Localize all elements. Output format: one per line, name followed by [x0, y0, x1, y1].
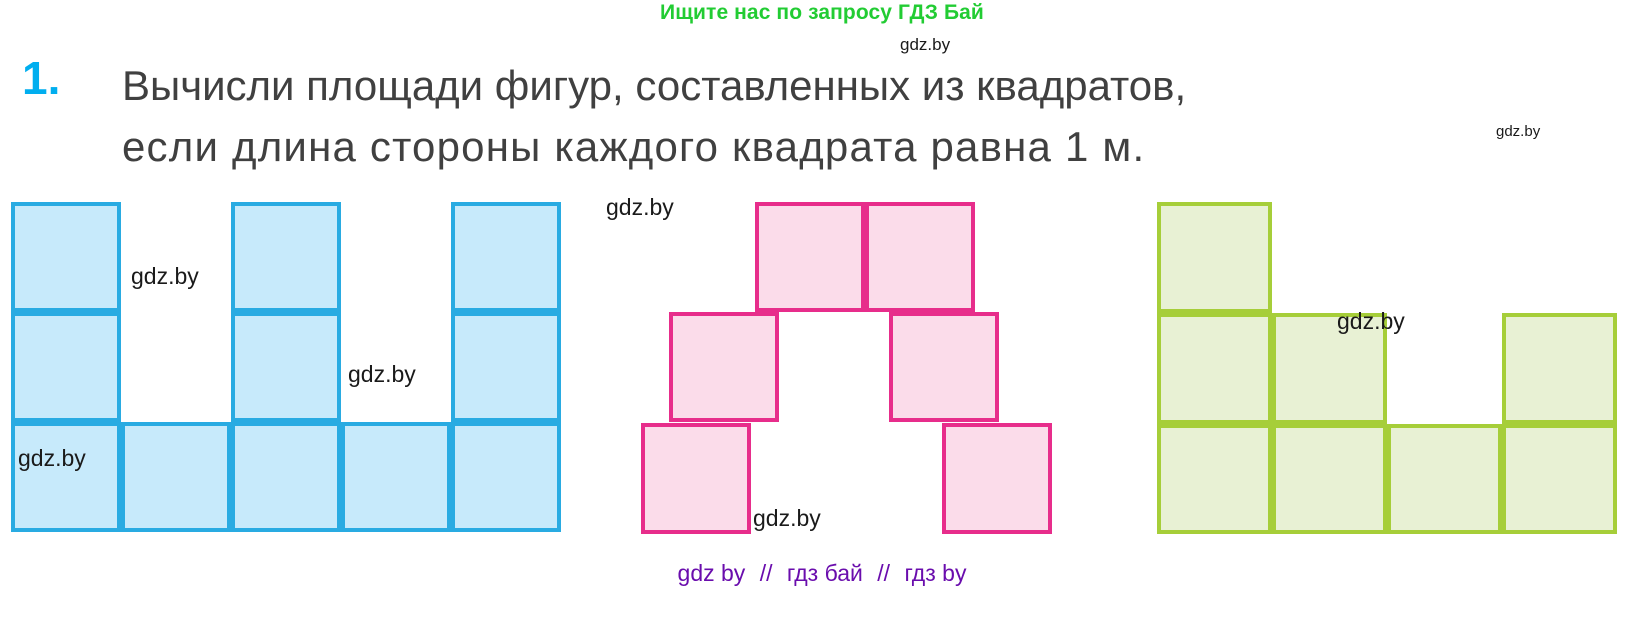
figure-pink-cell-r0c1: [755, 202, 865, 312]
footer-part-2: гдз бай: [787, 560, 863, 586]
figure-blue-cell-r2c3: [341, 422, 451, 532]
figure-pink-cell-r2c3: [942, 423, 1052, 534]
figure-blue-cell-r2c4: [451, 422, 561, 532]
figure-green-cell-r2c0: [1157, 424, 1272, 534]
figure-pink[interactable]: [641, 202, 1053, 534]
watermark-blue-2: gdz.by: [348, 363, 416, 386]
figure-green-cell-r2c2: [1387, 424, 1502, 534]
figure-blue-cell-r2c0: [11, 422, 121, 532]
footer-watermark: gdz by // гдз бай // гдз by: [0, 560, 1644, 587]
footer-part-3: гдз by: [904, 560, 966, 586]
figure-pink-cell-r1c3: [889, 312, 999, 422]
task-text-line-1: Вычисли площади фигур, составленных из к…: [122, 56, 1542, 117]
figure-green-cell-r1c3: [1502, 313, 1617, 424]
watermark-pink-bottom: gdz.by: [753, 507, 821, 530]
figure-green-cell-r1c0: [1157, 313, 1272, 424]
figure-green-cell-r2c1: [1272, 424, 1387, 534]
figure-blue-cell-r1c0: [11, 312, 121, 422]
watermark-after-unit: gdz.by: [1496, 124, 1540, 139]
watermark-blue-3: gdz.by: [18, 447, 86, 470]
footer-separator-2: //: [877, 560, 890, 586]
figure-green-cell-r2c3: [1502, 424, 1617, 534]
figure-blue-cell-r0c0: [11, 202, 121, 312]
task-text-line-2: если длина стороны каждого квадрата равн…: [122, 117, 1542, 178]
figure-blue[interactable]: [11, 202, 561, 534]
figure-green[interactable]: [1157, 202, 1619, 534]
watermark-top-center: gdz.by: [900, 36, 950, 53]
worksheet-page: Ищите нас по запросу ГДЗ Бай gdz.by 1. В…: [0, 0, 1644, 624]
footer-part-1: gdz by: [678, 560, 746, 586]
watermark-pink-top-left: gdz.by: [606, 196, 674, 219]
figure-green-cell-r0c0: [1157, 202, 1272, 313]
figure-blue-cell-r1c4: [451, 312, 561, 422]
figure-blue-cell-r1c2: [231, 312, 341, 422]
figure-pink-cell-r1c0: [669, 312, 779, 422]
figure-pink-cell-r0c2: [865, 202, 975, 312]
figure-blue-cell-r2c2: [231, 422, 341, 532]
task-number: 1.: [22, 55, 60, 101]
footer-separator-1: //: [760, 560, 773, 586]
task-text: Вычисли площади фигур, составленных из к…: [122, 56, 1542, 178]
figure-blue-cell-r0c2: [231, 202, 341, 312]
figure-blue-cell-r0c4: [451, 202, 561, 312]
figure-blue-cell-r2c1: [121, 422, 231, 532]
figure-pink-cell-r2c0: [641, 423, 751, 534]
watermark-blue-1: gdz.by: [131, 265, 199, 288]
promo-banner: Ищите нас по запросу ГДЗ Бай: [0, 1, 1644, 25]
watermark-green-mid: gdz.by: [1337, 310, 1405, 333]
